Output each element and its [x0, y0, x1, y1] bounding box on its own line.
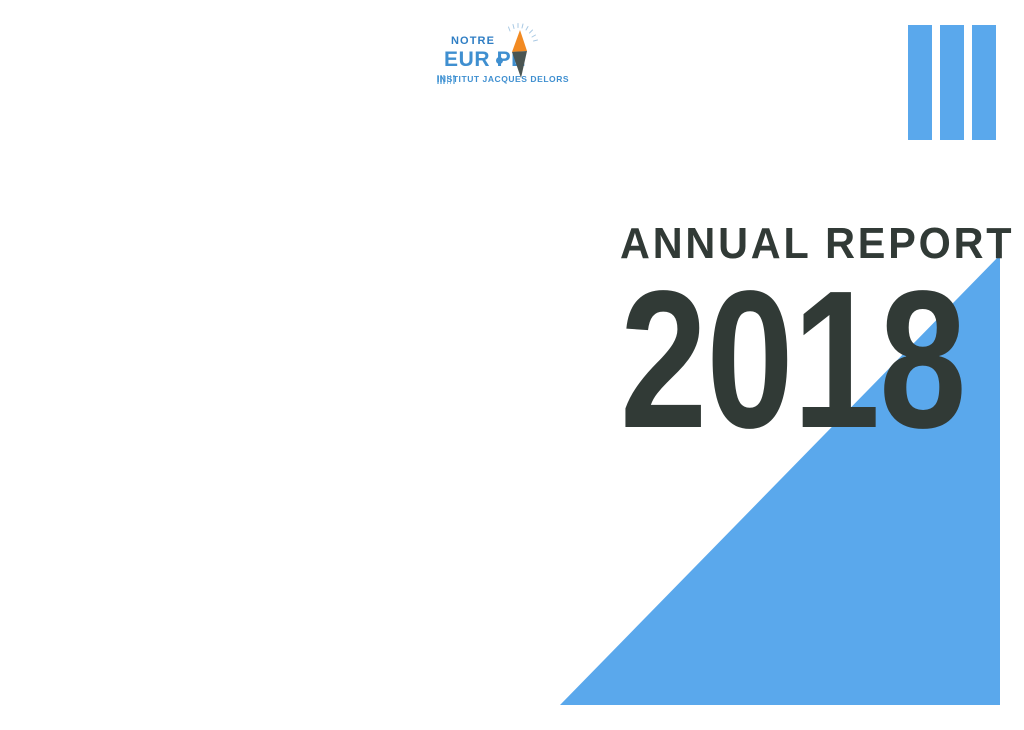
cover-year: 2018 [620, 284, 860, 437]
compass-needle-icon [494, 22, 540, 84]
logo-inner: NOTRE EUR PE [437, 28, 587, 96]
logo: NOTRE EUR PE [0, 28, 1024, 98]
cover-title-block: ANNUAL REPORT 2018 [620, 222, 920, 437]
logo-text-notre: NOTRE [451, 35, 495, 47]
logo-compass-dot [496, 57, 503, 64]
cover-page: NOTRE EUR PE [0, 0, 1024, 730]
